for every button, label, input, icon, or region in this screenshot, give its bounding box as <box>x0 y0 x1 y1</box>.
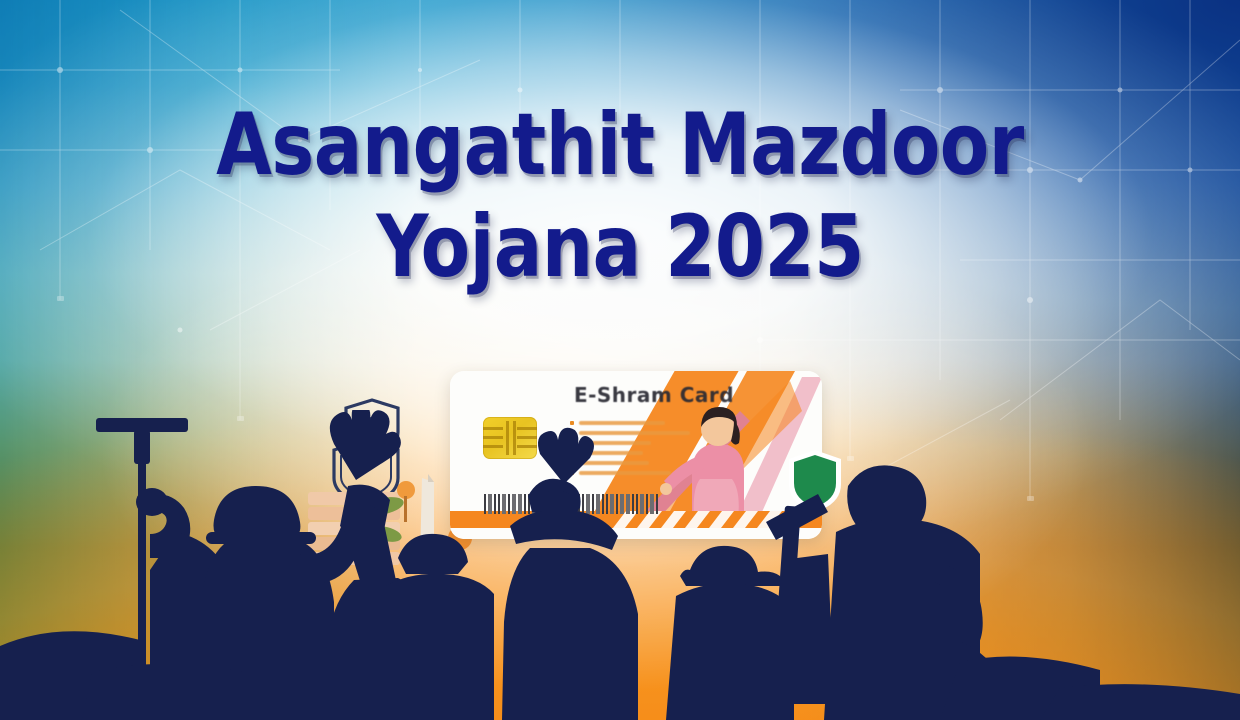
card-detail-row <box>570 431 690 435</box>
card-detail-row <box>570 461 690 465</box>
bullet-icon <box>570 461 574 465</box>
card-detail-row <box>570 441 690 445</box>
card-title: E-Shram Card <box>554 383 754 407</box>
barcode-icon <box>484 494 658 514</box>
e-shram-card: E-Shram Card <box>450 371 822 539</box>
card-detail-row <box>570 421 690 425</box>
card-detail-lines <box>570 421 690 481</box>
background-secondary-glow <box>0 0 1240 720</box>
bullet-icon <box>570 431 574 435</box>
green-security-shield-icon <box>786 448 844 514</box>
card-detail-row <box>570 471 690 475</box>
bullet-icon <box>570 471 574 475</box>
bullet-icon <box>570 441 574 445</box>
card-detail-row <box>570 451 690 455</box>
bullet-icon <box>570 451 574 455</box>
smart-card-chip-icon <box>483 417 537 459</box>
bullet-icon <box>570 421 574 425</box>
promo-banner: Asangathit Mazdoor Yojana 2025 <box>0 0 1240 720</box>
